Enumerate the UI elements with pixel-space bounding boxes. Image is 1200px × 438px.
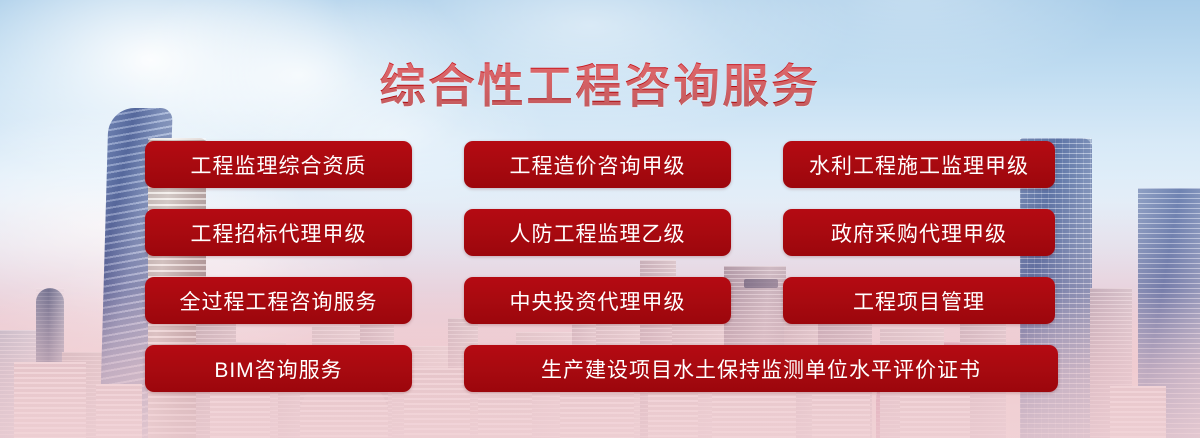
qualification-badge[interactable]: 水利工程施工监理甲级: [783, 141, 1055, 188]
qualification-badge[interactable]: 人防工程监理乙级: [464, 209, 731, 256]
badge-row: 工程监理综合资质 工程造价咨询甲级 水利工程施工监理甲级: [145, 141, 1060, 188]
qualification-badge[interactable]: 工程造价咨询甲级: [464, 141, 731, 188]
qualification-badge[interactable]: 工程监理综合资质: [145, 141, 412, 188]
qualification-badge[interactable]: 生产建设项目水土保持监测单位水平评价证书: [464, 345, 1058, 392]
badge-row: 全过程工程咨询服务 中央投资代理甲级 工程项目管理: [145, 277, 1060, 324]
qualification-badge[interactable]: 工程招标代理甲级: [145, 209, 412, 256]
page-title: 综合性工程咨询服务: [0, 50, 1200, 116]
qualification-badge[interactable]: 全过程工程咨询服务: [145, 277, 412, 324]
badge-row: 工程招标代理甲级 人防工程监理乙级 政府采购代理甲级: [145, 209, 1060, 256]
qualification-badge[interactable]: 政府采购代理甲级: [783, 209, 1055, 256]
qualifications-banner: 综合性工程咨询服务 工程监理综合资质 工程造价咨询甲级 水利工程施工监理甲级 工…: [0, 0, 1200, 438]
qualification-badge[interactable]: 中央投资代理甲级: [464, 277, 731, 324]
banner-content: 综合性工程咨询服务 工程监理综合资质 工程造价咨询甲级 水利工程施工监理甲级 工…: [0, 0, 1200, 438]
qualification-badge[interactable]: BIM咨询服务: [145, 345, 412, 392]
qualification-badge[interactable]: 工程项目管理: [783, 277, 1055, 324]
badge-row: BIM咨询服务 生产建设项目水土保持监测单位水平评价证书: [145, 345, 1060, 392]
qualification-badge-grid: 工程监理综合资质 工程造价咨询甲级 水利工程施工监理甲级 工程招标代理甲级 人防…: [145, 141, 1060, 392]
